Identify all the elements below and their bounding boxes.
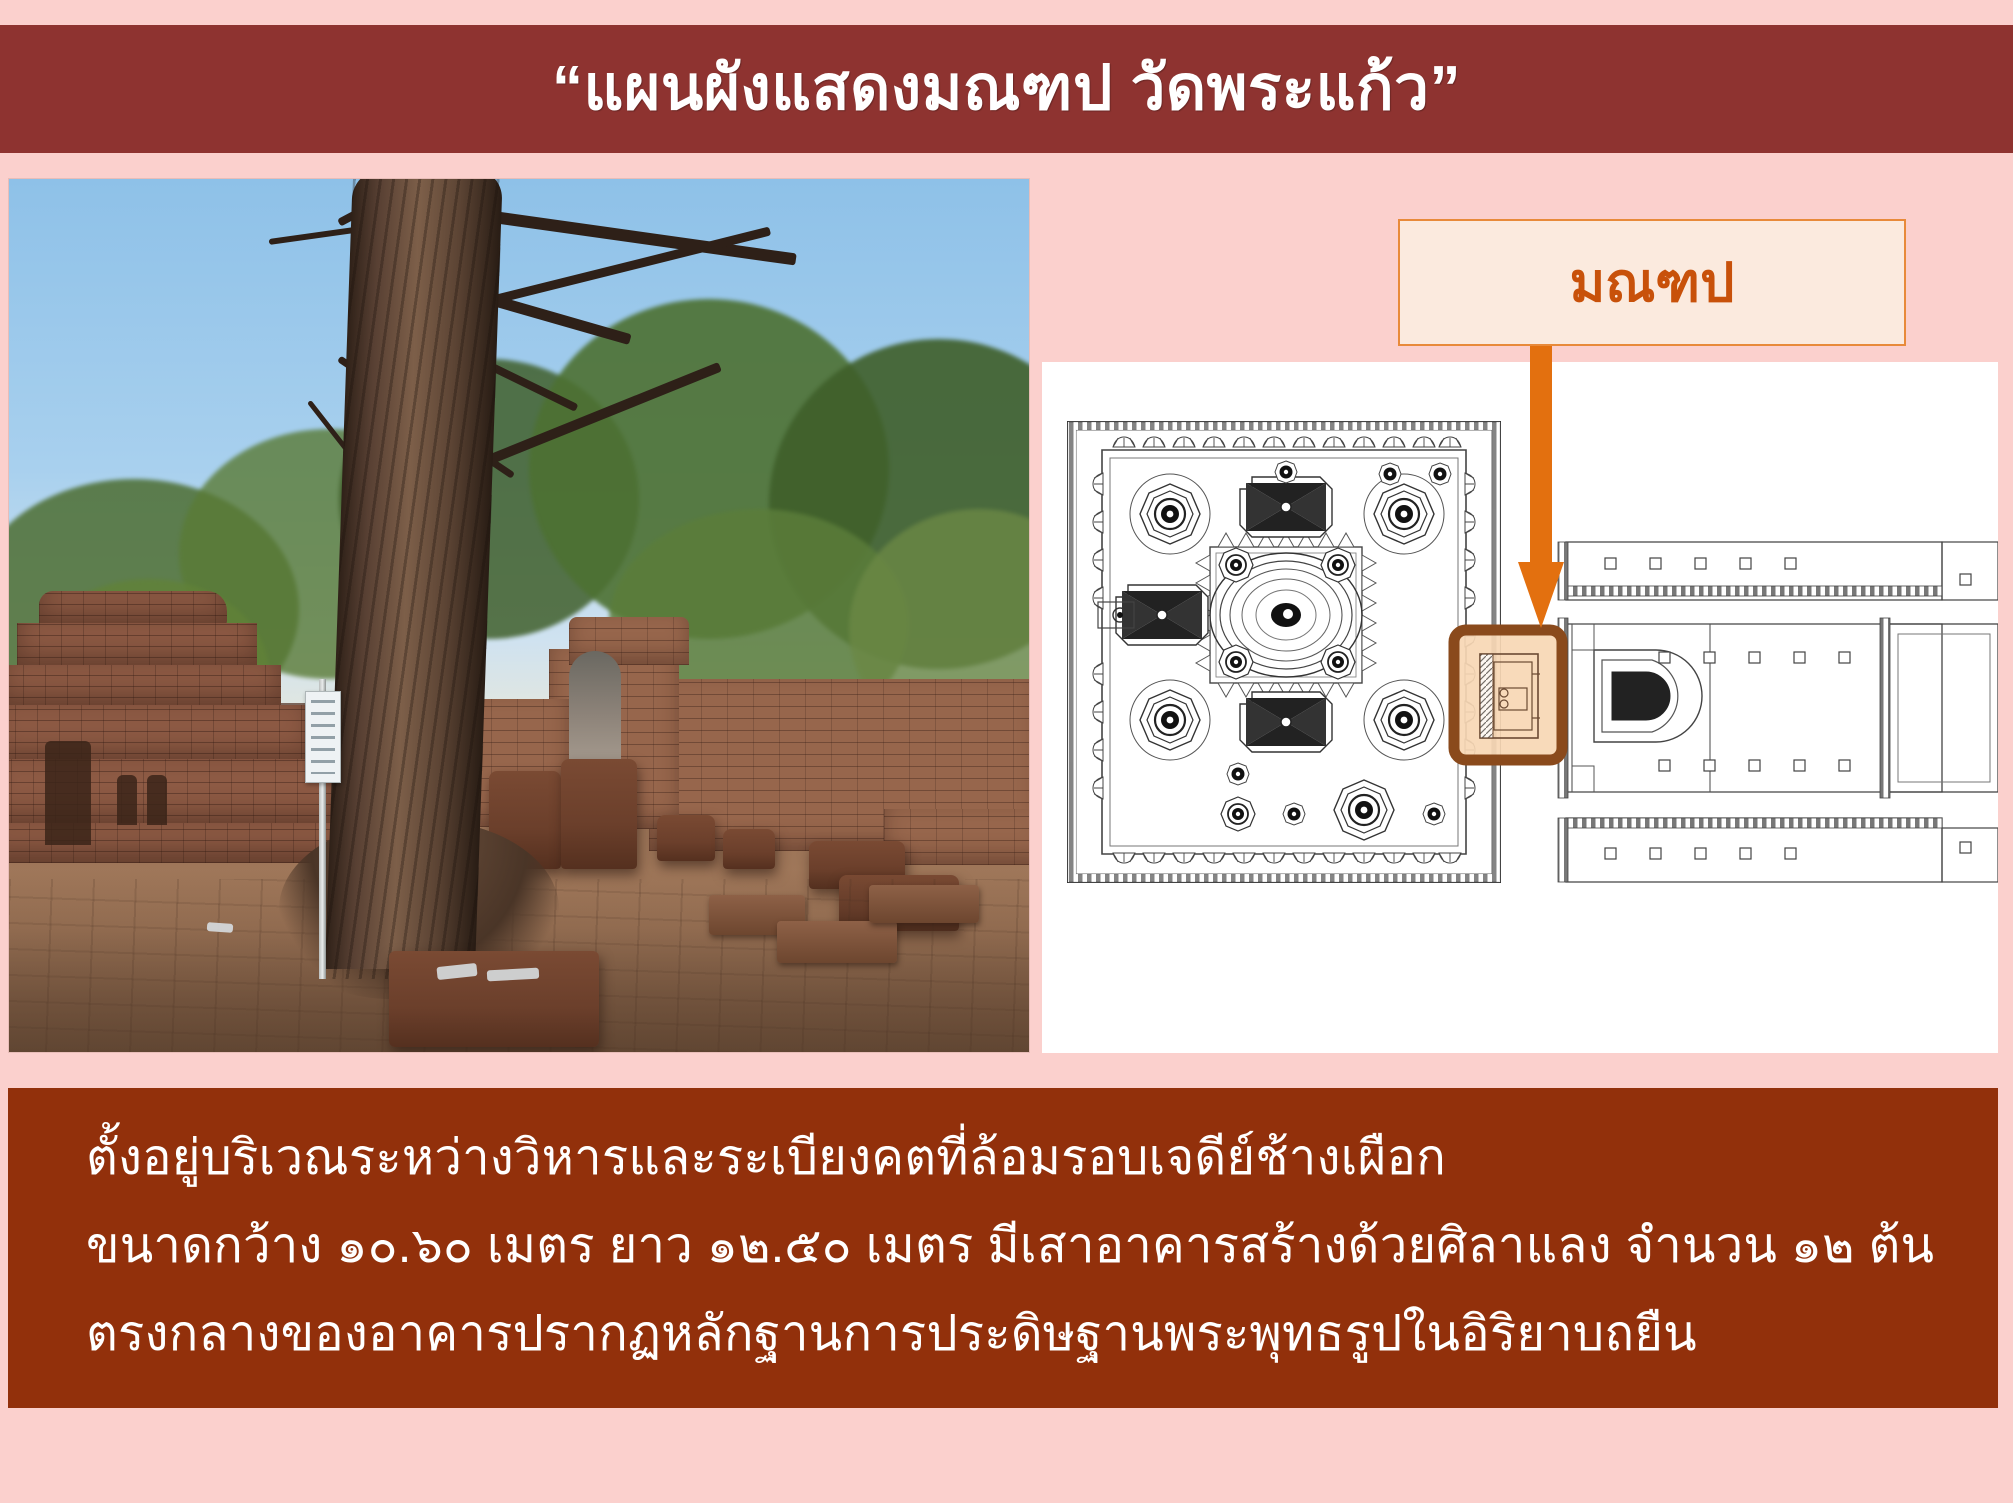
hatched-pillar: [1240, 477, 1332, 537]
site-photograph: [8, 178, 1030, 1053]
brick-stupa: [8, 665, 281, 709]
column-base: [1321, 548, 1355, 582]
column-base: [1219, 548, 1253, 582]
column-base: [1219, 645, 1253, 679]
brick-stupa: [17, 623, 257, 669]
tree-bark-texture: [325, 179, 503, 979]
chedi-enclosure: [1068, 422, 1500, 882]
stone-chip: [207, 922, 234, 933]
mondop-highlight: [1454, 630, 1562, 760]
corner-stupa: [1374, 690, 1434, 750]
rubble: [869, 885, 979, 923]
caption-line-2: ขนาดกว้าง ๑๐.๖๐ เมตร ยาว ๑๒.๕๐ เมตร มีเส…: [86, 1202, 1930, 1290]
laterite-column-stump: [657, 815, 715, 861]
callout-label-box[interactable]: มณฑป: [1398, 219, 1906, 346]
corner-stupa: [1140, 484, 1200, 544]
corner-stupa: [1140, 690, 1200, 750]
hatched-pillar: [1116, 585, 1208, 645]
brick-stupa: [39, 591, 227, 627]
vihara-plan: [1558, 542, 1998, 882]
caption-line-3: ตรงกลางของอาคารปรากฏหลักฐานการประดิษฐานพ…: [86, 1290, 1930, 1378]
temple-floor-plan: [1042, 362, 1998, 1053]
laterite-base-block: [389, 951, 599, 1047]
rubble: [777, 921, 897, 963]
laterite-column-stump: [561, 759, 637, 869]
title-bar: “แผนผังแสดงมณฑป วัดพระแก้ว”: [0, 25, 2013, 153]
wall-niche: [117, 775, 137, 825]
floor-plan-drawing: [1042, 362, 1998, 1053]
hatched-pillar: [1240, 692, 1332, 752]
caption-box: ตั้งอยู่บริเวณระหว่างวิหารและระเบียงคตที…: [8, 1088, 1998, 1408]
brick-wall: [884, 809, 1030, 865]
callout-label-text: มณฑป: [1570, 256, 1735, 310]
information-sign: [305, 691, 341, 783]
corner-stupa: [1374, 484, 1434, 544]
wall-niche: [45, 741, 91, 845]
caption-line-1: ตั้งอยู่บริเวณระหว่างวิหารและระเบียงคตที…: [86, 1114, 1930, 1202]
page-title: “แผนผังแสดงมณฑป วัดพระแก้ว”: [552, 58, 1461, 120]
laterite-column-stump: [723, 829, 775, 869]
buddha-pedestal: [1572, 624, 1710, 792]
wall-niche: [147, 775, 167, 825]
column-base: [1321, 645, 1355, 679]
